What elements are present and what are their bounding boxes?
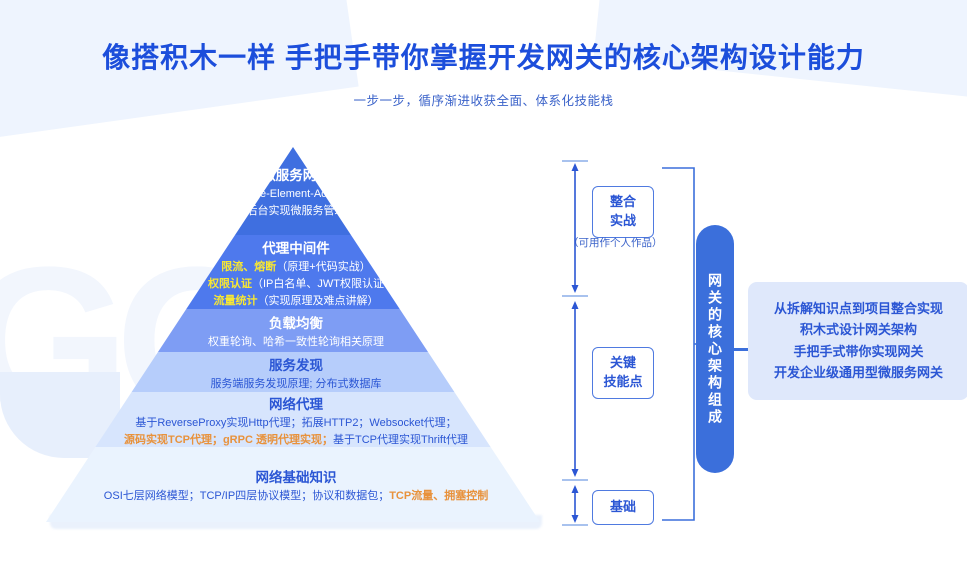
band-label-key-skills-line-1: 关键 xyxy=(593,354,653,373)
page-title: 像搭积木一样 手把手带你掌握开发网关的核心架构设计能力 xyxy=(0,40,967,76)
band-note-integration: （可用作个人作品） xyxy=(568,235,663,250)
architecture-pyramid: 微服务网关Vue-Element-Admin后台实现微服务管理代理中间件限流、熔… xyxy=(46,147,546,529)
summary-line-2: 积木式设计网关架构 xyxy=(756,319,961,340)
pyramid-shape xyxy=(46,147,546,522)
pyramid-layer-network-fundamentals[interactable] xyxy=(46,447,540,522)
band-label-fundamentals[interactable]: 基础 xyxy=(592,490,654,525)
pyramid-layer-service-discovery[interactable] xyxy=(132,352,455,392)
summary-line-4: 开发企业级通用型微服务网关 xyxy=(756,362,961,383)
band-label-key-skills-line-2: 技能点 xyxy=(593,373,653,392)
pyramid-layer-load-balancing[interactable] xyxy=(158,309,428,352)
page-header: 像搭积木一样 手把手带你掌握开发网关的核心架构设计能力 一步一步，循序渐进收获全… xyxy=(0,40,967,109)
core-architecture-pill-text: 网关的核心架构组成 xyxy=(708,273,722,426)
phase-scale-column xyxy=(562,160,592,526)
summary-line-3: 手把手式带你实现网关 xyxy=(756,341,961,362)
core-architecture-pill: 网关的核心架构组成 xyxy=(696,225,734,473)
page-subtitle: 一步一步，循序渐进收获全面、体系化技能栈 xyxy=(0,90,967,109)
pyramid-layer-network-proxy[interactable] xyxy=(95,392,490,447)
pyramid-layer-proxy-middleware[interactable] xyxy=(186,235,399,309)
band-label-integration-line-2: 实战 xyxy=(593,212,653,231)
band-label-key-skills[interactable]: 关键 技能点 xyxy=(592,347,654,399)
summary-line-1: 从拆解知识点到项目整合实现 xyxy=(756,298,961,319)
band-label-integration-line-1: 整合 xyxy=(593,193,653,212)
scale-arrows xyxy=(562,160,592,526)
summary-card: 从拆解知识点到项目整合实现 积木式设计网关架构 手把手式带你实现网关 开发企业级… xyxy=(748,282,967,400)
band-label-integration[interactable]: 整合 实战 xyxy=(592,186,654,238)
band-label-fundamentals-line-1: 基础 xyxy=(593,498,653,517)
pyramid-layer-microservice-gateway[interactable] xyxy=(235,147,351,235)
